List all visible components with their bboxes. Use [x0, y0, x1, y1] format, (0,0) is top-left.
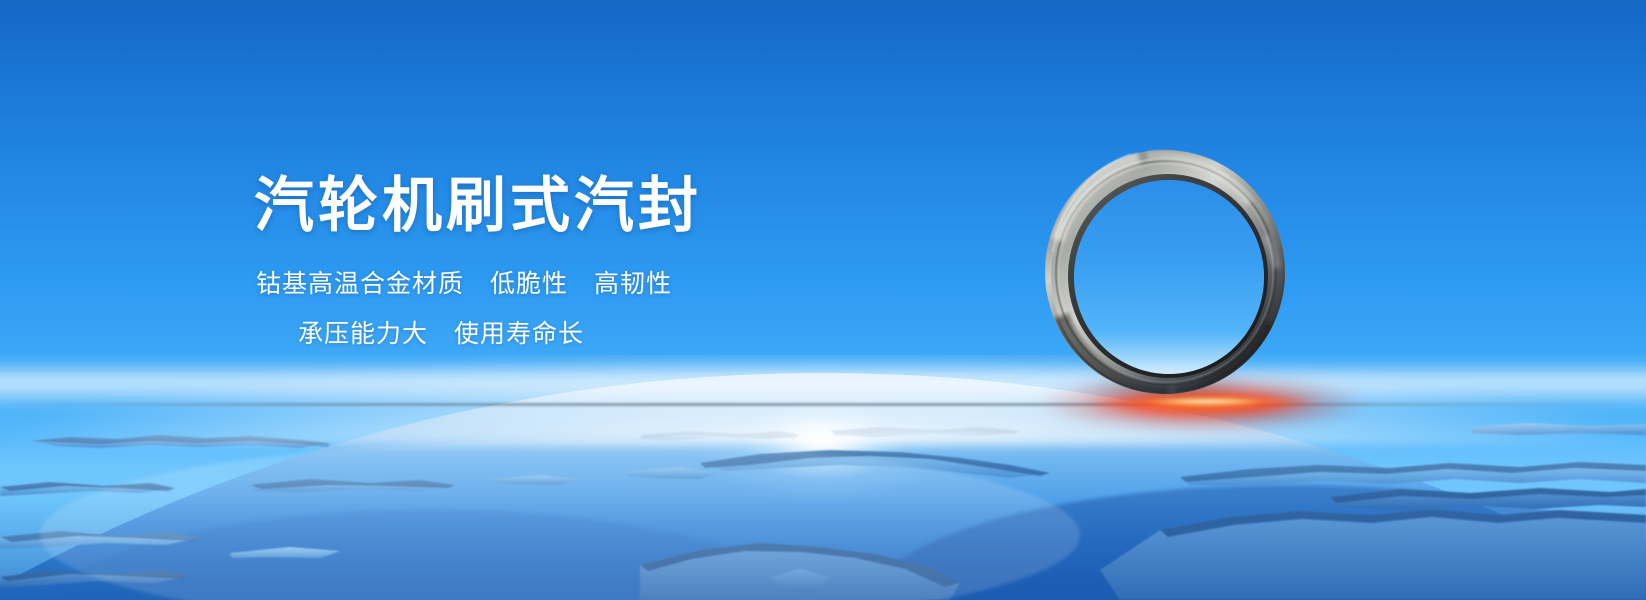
turbine-brush-seal-ring: [1043, 148, 1287, 398]
horizon-streak: [0, 403, 1646, 406]
atmosphere-haze: [0, 361, 1646, 407]
subtitle-line-1: 钴基高温合金材质 低脆性 高韧性: [256, 272, 672, 297]
ring-ground-shadow: [1061, 374, 1271, 400]
page-title: 汽轮机刷式汽封: [254, 176, 702, 236]
subtitle-line-2: 承压能力大 使用寿命长: [298, 322, 584, 347]
earth-globe: [0, 355, 1646, 600]
hero-banner: 汽轮机刷式汽封 钴基高温合金材质 低脆性 高韧性 承压能力大 使用寿命长: [0, 0, 1646, 600]
